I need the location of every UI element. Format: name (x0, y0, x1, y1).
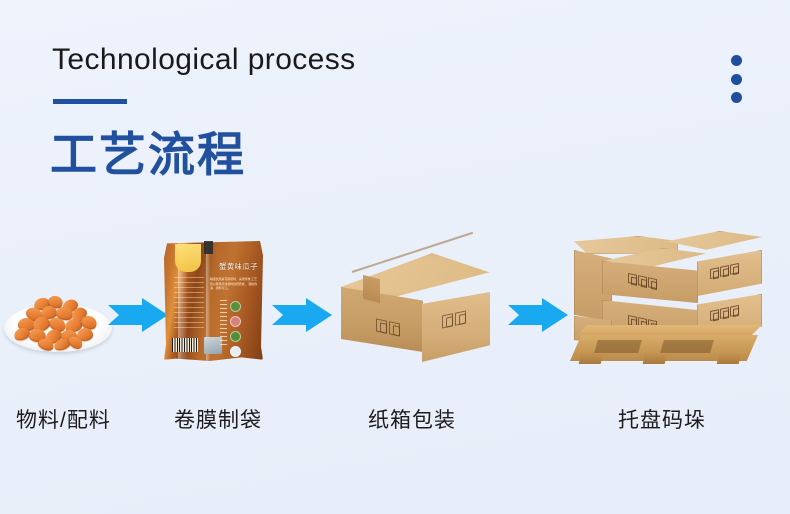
pallet-box-back-right-top (666, 231, 762, 251)
kebab-dot-1 (731, 55, 742, 66)
this-side-up-icon (389, 321, 400, 336)
bag-back-text-block (174, 277, 204, 329)
carton-box-image (340, 253, 491, 361)
kebab-dot-2 (731, 74, 742, 85)
bag-icon-seed (230, 316, 241, 327)
bag-top-seal (204, 241, 213, 254)
kebab-dot-3 (731, 92, 742, 103)
bag-window-panel (175, 244, 201, 272)
umbrella-icon (730, 263, 739, 275)
umbrella-icon (648, 277, 657, 289)
pallet-foot-3 (717, 353, 742, 364)
bag-body: 蟹黄味瓜子 精选优质葵花籽原料，采用传统 工艺配以蟹黄风味调料烘焙而成， 颗粒饱… (164, 241, 263, 361)
kebab-menu-icon[interactable] (729, 55, 743, 103)
carton-side-face (422, 292, 490, 362)
fragile-icon (628, 273, 637, 285)
pallet-stack-image (570, 228, 765, 365)
flow-arrow-1 (108, 298, 168, 332)
process-flow-slide: Technological process 工艺流程 (0, 0, 790, 514)
pallet-opening-2 (660, 340, 714, 353)
flow-arrow-3 (508, 298, 568, 332)
page-title-chinese: 工艺流程 (50, 116, 246, 185)
step-label-material: 物料/配料 (16, 404, 111, 434)
fragile-icon (710, 309, 719, 321)
bag-description: 精选优质葵花籽原料，采用传统 工艺配以蟹黄风味调料烘焙而成， 颗粒饱满、香酥可口… (210, 277, 258, 291)
bag-product-name: 蟹黄味瓜子 (219, 261, 258, 272)
bag-icon-bowl (230, 346, 241, 357)
bag-icon-plant (230, 331, 241, 342)
carton-tape-strip (363, 275, 380, 303)
step-label-carton: 纸箱包装 (368, 404, 456, 434)
step-label-film-bag: 卷膜制袋 (174, 404, 262, 434)
this-side-up-icon (720, 265, 729, 277)
page-title-english: Technological process (52, 43, 356, 77)
umbrella-icon (730, 305, 739, 317)
snack-bag-image: 蟹黄味瓜子 精选优质葵花籽原料，采用传统 工艺配以蟹黄风味调料烘焙而成， 颗粒饱… (164, 241, 263, 361)
bag-side-text-block (220, 300, 227, 348)
title-divider (53, 99, 127, 104)
fragile-icon (710, 267, 719, 279)
fragile-icon (376, 318, 387, 333)
nuts-plate-image (4, 288, 112, 354)
barcode-icon (172, 338, 198, 352)
umbrella-icon (442, 313, 453, 328)
bag-icon-leaf (230, 301, 241, 312)
handle-with-care-icon (455, 310, 466, 325)
pallet-foot-2 (643, 353, 668, 364)
flow-arrow-2 (272, 298, 332, 332)
pallet-foot-1 (579, 353, 604, 364)
pallet-opening-1 (594, 340, 642, 353)
this-side-up-icon (720, 307, 729, 319)
wooden-pallet (570, 323, 765, 365)
bag-feature-icons (230, 301, 241, 361)
step-label-palletize: 托盘码垛 (618, 404, 706, 434)
this-side-up-icon (638, 275, 647, 287)
